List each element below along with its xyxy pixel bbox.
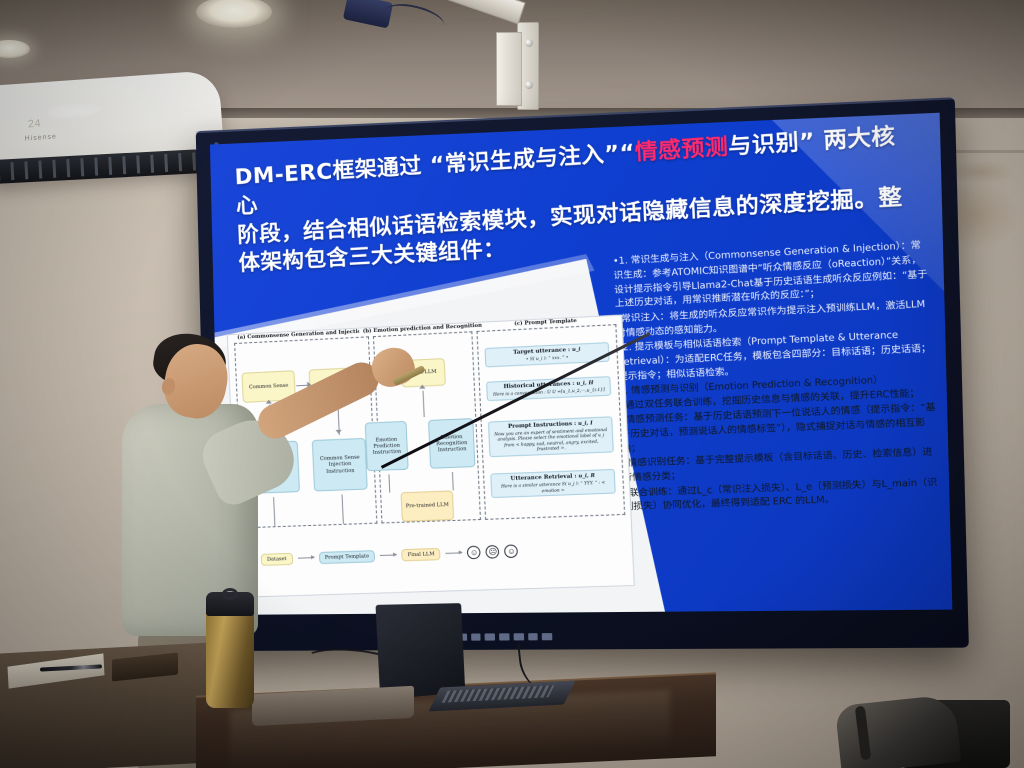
slide-title-line2: 阶段，结合相似话语检索模块，实现对话隐藏信息的深度挖掘。整 xyxy=(237,184,903,248)
display-status-leds xyxy=(457,633,553,641)
template-prompt-instructions: Prompt Instructions : u_i, I Now you are… xyxy=(489,416,614,457)
template-variable: u_i xyxy=(572,346,581,353)
diagram-panel-c: (c) Prompt Template Target utterance : u… xyxy=(477,324,625,520)
side-table xyxy=(0,642,220,768)
emotion-face-icon: ☺ xyxy=(467,545,481,559)
panel-b-caption: (b) Emotion prediction and Recognition xyxy=(360,322,486,334)
ac-temperature-display: 24 xyxy=(27,118,44,131)
laptop-screen[interactable] xyxy=(375,603,465,700)
water-bottle xyxy=(206,600,254,708)
mount-arm-vertical xyxy=(496,32,522,106)
air-conditioner: 24 Hisense xyxy=(0,70,225,184)
pipeline-node-final-llm: Final LLM xyxy=(402,547,442,560)
slide-body-text: •1. 常识生成与注入（Commonsense Generation & Inj… xyxy=(613,239,941,516)
emotion-face-icon: ☺ xyxy=(505,544,519,558)
template-variable: u_i, H xyxy=(577,380,594,387)
pipeline-connector xyxy=(446,552,463,554)
template-historical-utterances: Historical utterances : u_i, H Here is a… xyxy=(487,376,612,400)
water-bottle-loop xyxy=(222,588,238,600)
classroom-scene: 24 Hisense DM-ERC框架通过 “常识生成与注入”“情感预测与识别”… xyxy=(0,0,1024,768)
arrow-line xyxy=(452,471,454,490)
template-utterance-retrieval: Utterance Retrieval : u_i, R Here is a s… xyxy=(491,469,616,498)
ac-reflection xyxy=(46,102,101,120)
pipeline-connector xyxy=(380,554,396,556)
ac-brand-label: Hisense xyxy=(24,133,57,142)
panel-c-caption: (c) Prompt Template xyxy=(511,317,580,327)
template-sub: Now you are an expert of sentiment and e… xyxy=(493,426,609,453)
backpack xyxy=(835,694,961,768)
arrow-line xyxy=(423,390,425,416)
slide-title-highlight: 情感预测 xyxy=(634,134,729,166)
node-pretrained-llm: Pre-trained LLM xyxy=(401,490,455,522)
emotion-face-icon: ☹ xyxy=(486,545,500,559)
template-variable: u_i, R xyxy=(579,473,596,480)
arrow-head xyxy=(420,384,426,388)
template-variable: u_i, I xyxy=(578,420,593,427)
arrow-line xyxy=(388,474,390,493)
